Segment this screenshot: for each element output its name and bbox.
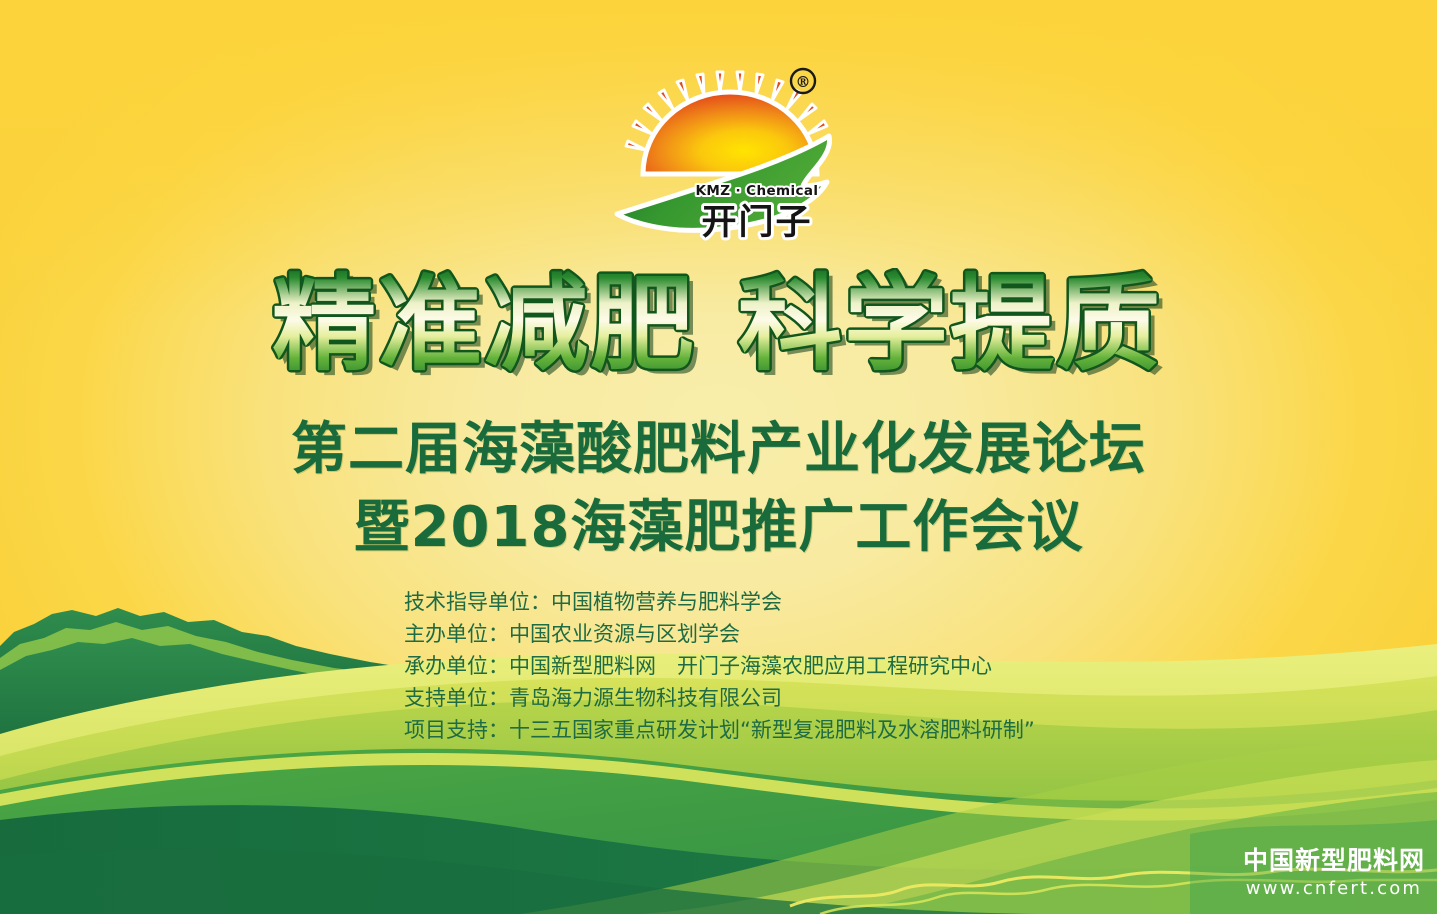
poster-banner: ® KMZ · Chemical 开门子 (0, 0, 1437, 914)
headline-part1: 精准减肥 (271, 268, 695, 385)
credit-line-technical-guidance: 技术指导单位：中国植物营养与肥料学会 (404, 586, 1035, 618)
watermark-site-url: www.cnfert.com (1243, 880, 1425, 898)
subtitle-line-2: 暨2018海藻肥推广工作会议 (0, 482, 1437, 563)
credits-block: 技术指导单位：中国植物营养与肥料学会 主办单位：中国农业资源与区划学会 承办单位… (404, 586, 1035, 746)
site-watermark: 中国新型肥料网 www.cnfert.com (1243, 848, 1425, 898)
logo-chinese-text: 开门子 (701, 203, 812, 243)
watermark-site-name: 中国新型肥料网 (1243, 848, 1425, 873)
logo-latin-text: KMZ · Chemical (695, 183, 818, 199)
credit-line-undertaker: 承办单位：中国新型肥料网 开门子海藻农肥应用工程研究中心 (404, 650, 1035, 682)
credit-line-project-support: 项目支持：十三五国家重点研发计划“新型复混肥料及水溶肥料研制” (404, 714, 1035, 746)
main-headline: 精准减肥科学提质 精准减肥科学提质 (0, 268, 1437, 390)
headline-text: 精准减肥科学提质 (271, 268, 1161, 385)
registered-mark-icon: ® (791, 69, 815, 93)
headline-part2: 科学提质 (738, 268, 1162, 385)
registered-mark-glyph: ® (795, 73, 810, 91)
credit-line-organizer: 主办单位：中国农业资源与区划学会 (404, 618, 1035, 650)
subtitle-line-1: 第二届海藻酸肥料产业化发展论坛 (0, 404, 1437, 485)
company-logo: ® KMZ · Chemical 开门子 (607, 62, 837, 247)
credit-line-supporter: 支持单位：青岛海力源生物科技有限公司 (404, 682, 1035, 714)
